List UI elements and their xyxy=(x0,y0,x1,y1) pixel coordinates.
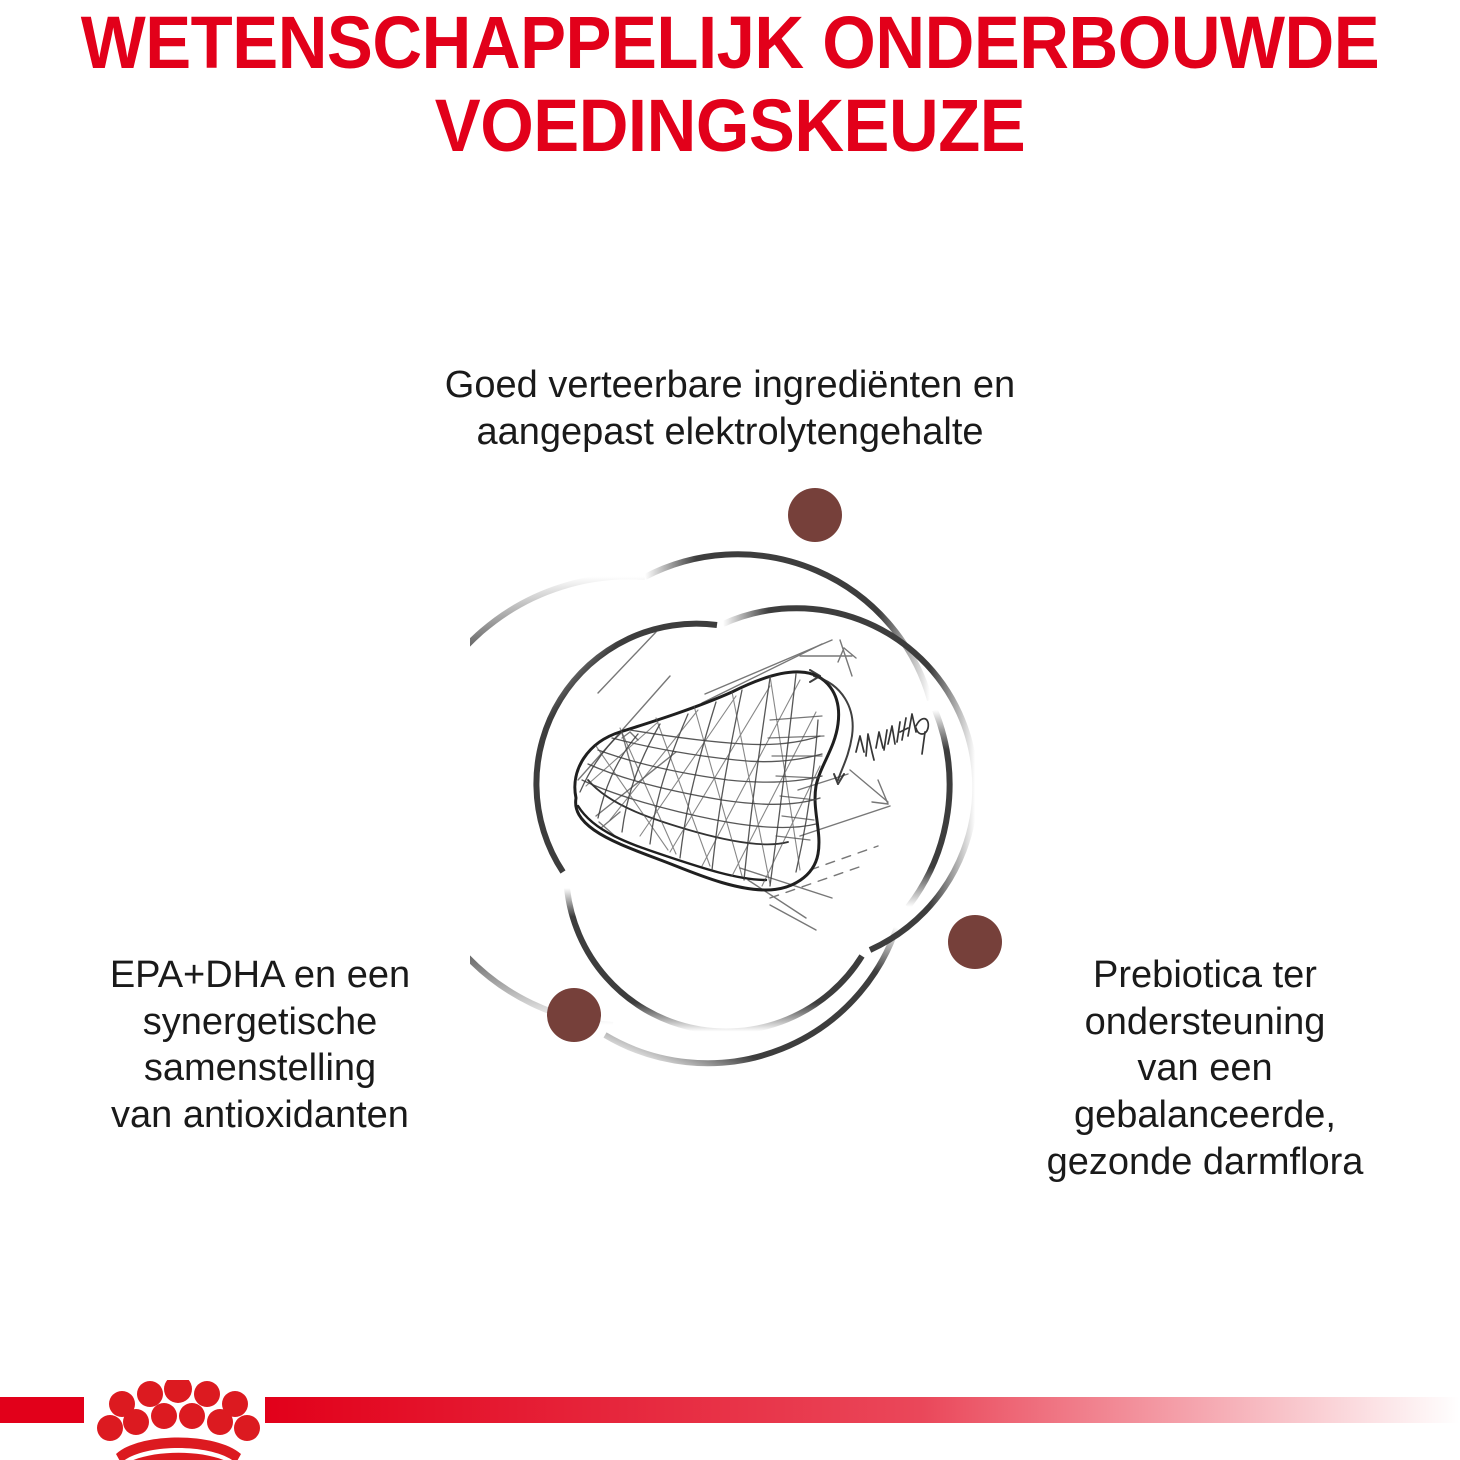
callout-text-right: Prebiotica ter ondersteuning van een geb… xyxy=(985,952,1425,1186)
footer xyxy=(0,1380,1460,1460)
royal-canin-crown-logo xyxy=(97,1380,260,1460)
page-title: WETENSCHAPPELIJK ONDERBOUWDE VOEDINGSKEU… xyxy=(51,2,1409,168)
kibble-sketch-illustration xyxy=(575,632,928,930)
footer-bar-left xyxy=(0,1397,84,1423)
central-diagram xyxy=(470,480,1030,1080)
node-dot-right xyxy=(948,915,1002,969)
callout-text-top: Goed verteerbare ingrediënten en aangepa… xyxy=(380,362,1080,455)
node-dot-bottom-left xyxy=(547,988,601,1042)
node-dot-top-right xyxy=(788,488,842,542)
callout-text-left: EPA+DHA en een synergetische samenstelli… xyxy=(40,952,480,1139)
footer-bar-right xyxy=(265,1397,1460,1423)
